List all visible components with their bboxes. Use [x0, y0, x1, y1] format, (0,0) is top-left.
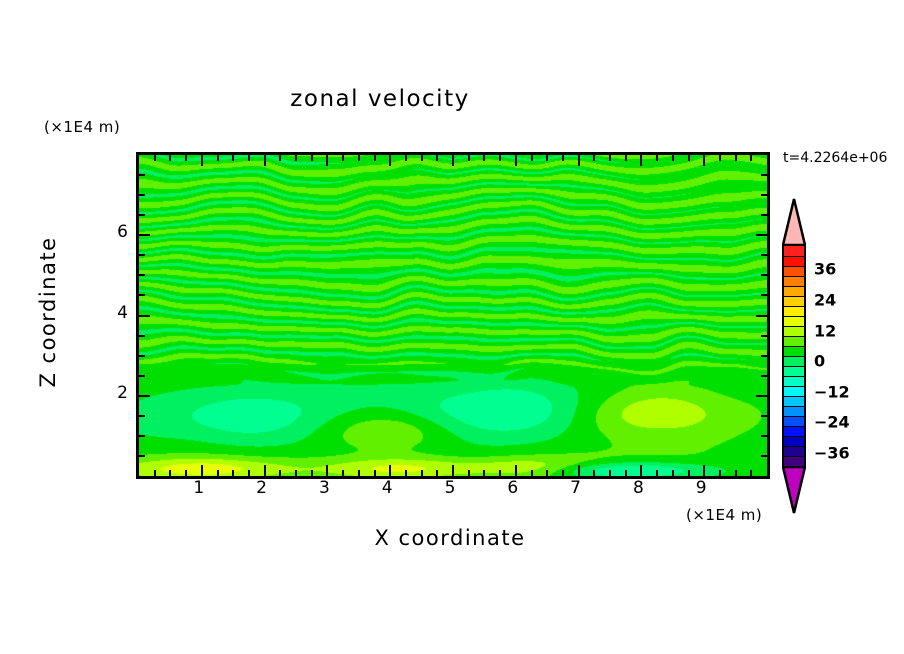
x-tick-top: [279, 155, 281, 161]
colorbar-bands: [782, 244, 806, 468]
z-tick-left: [139, 375, 145, 377]
x-tick-label: 8: [633, 478, 644, 498]
colorbar[interactable]: 3624120−12−24−36: [778, 198, 818, 514]
x-tick-bottom: [421, 470, 423, 476]
x-tick-top: [688, 155, 690, 161]
colorbar-band: [784, 336, 804, 346]
x-tick-top: [389, 155, 391, 166]
x-tick-label: 1: [193, 478, 204, 498]
z-tick-right: [756, 395, 767, 397]
x-tick-bottom: [295, 470, 297, 476]
x-tick-top: [640, 155, 642, 166]
colorbar-top-arrow-icon: [782, 198, 806, 246]
x-tick-label: 2: [256, 478, 267, 498]
z-tick-right: [761, 415, 767, 417]
x-axis-unit-note: (×1E4 m): [686, 506, 762, 524]
x-tick-top: [264, 155, 266, 166]
x-tick-top: [326, 155, 328, 166]
z-tick-left: [139, 194, 145, 196]
x-tick-label: 3: [319, 478, 330, 498]
x-tick-bottom: [185, 470, 187, 476]
z-tick-left: [139, 455, 145, 457]
x-tick-bottom: [248, 470, 250, 476]
x-tick-bottom: [452, 465, 454, 476]
x-tick-bottom: [483, 470, 485, 476]
x-tick-top: [295, 155, 297, 161]
x-tick-bottom: [436, 470, 438, 476]
x-tick-bottom: [672, 470, 674, 476]
x-tick-bottom: [169, 470, 171, 476]
x-tick-top: [750, 155, 752, 161]
x-tick-bottom: [499, 470, 501, 476]
colorbar-tick-label: −36: [814, 443, 850, 462]
z-tick-left: [139, 315, 150, 317]
z-tick-right: [761, 274, 767, 276]
x-tick-top: [217, 155, 219, 161]
x-tick-bottom: [154, 470, 156, 476]
x-tick-top: [154, 155, 156, 161]
colorbar-band: [784, 256, 804, 266]
x-tick-bottom: [750, 470, 752, 476]
x-tick-bottom: [405, 470, 407, 476]
y-axis-unit-note: (×1E4 m): [44, 118, 120, 136]
x-tick-top: [421, 155, 423, 161]
contour-plot-area[interactable]: [136, 152, 770, 479]
z-tick-label: 4: [98, 303, 128, 323]
z-tick-right: [761, 335, 767, 337]
z-tick-left: [139, 355, 145, 357]
z-tick-left: [139, 395, 150, 397]
x-tick-bottom: [609, 470, 611, 476]
z-tick-left: [139, 335, 145, 337]
x-tick-bottom: [546, 470, 548, 476]
x-tick-label: 7: [570, 478, 581, 498]
x-tick-top: [185, 155, 187, 161]
x-tick-top: [468, 155, 470, 161]
x-tick-bottom: [326, 465, 328, 476]
x-tick-bottom: [578, 465, 580, 476]
x-tick-label: 9: [696, 478, 707, 498]
x-tick-bottom: [201, 465, 203, 476]
colorbar-band: [784, 316, 804, 326]
x-tick-bottom: [468, 470, 470, 476]
x-tick-bottom: [593, 470, 595, 476]
x-tick-bottom: [389, 465, 391, 476]
colorbar-bottom-arrow-icon: [782, 466, 806, 514]
colorbar-band: [784, 346, 804, 356]
colorbar-band: [784, 406, 804, 416]
colorbar-band: [784, 366, 804, 376]
x-tick-label: 6: [507, 478, 518, 498]
colorbar-tick-label: −12: [814, 382, 850, 401]
x-tick-top: [358, 155, 360, 161]
colorbar-band: [784, 306, 804, 316]
y-axis-title: Z coordinate: [36, 236, 60, 387]
x-tick-top: [719, 155, 721, 161]
x-tick-top: [311, 155, 313, 161]
x-tick-bottom: [515, 465, 517, 476]
colorbar-band: [784, 416, 804, 426]
z-tick-right: [761, 355, 767, 357]
x-tick-top: [248, 155, 250, 161]
z-tick-left: [139, 214, 145, 216]
x-tick-bottom: [656, 470, 658, 476]
x-tick-top: [452, 155, 454, 166]
x-tick-bottom: [735, 470, 737, 476]
page-title: zonal velocity: [0, 86, 760, 112]
x-tick-top: [169, 155, 171, 161]
colorbar-band: [784, 386, 804, 396]
z-tick-right: [761, 214, 767, 216]
x-tick-label: 4: [382, 478, 393, 498]
colorbar-tick-label: 0: [814, 352, 825, 371]
x-tick-bottom: [311, 470, 313, 476]
z-tick-right: [761, 174, 767, 176]
x-tick-top: [232, 155, 234, 161]
colorbar-band: [784, 296, 804, 306]
z-tick-right: [761, 194, 767, 196]
colorbar-tick-label: −24: [814, 413, 850, 432]
x-tick-top: [201, 155, 203, 166]
colorbar-tick-label: 36: [814, 260, 836, 279]
x-tick-top: [499, 155, 501, 161]
x-tick-bottom: [358, 470, 360, 476]
z-tick-label: 2: [98, 383, 128, 403]
x-tick-top: [483, 155, 485, 161]
colorbar-tick-label: 12: [814, 321, 836, 340]
x-tick-bottom: [374, 470, 376, 476]
z-tick-left: [139, 254, 145, 256]
z-tick-right: [761, 455, 767, 457]
x-tick-top: [374, 155, 376, 161]
z-tick-left: [139, 294, 145, 296]
z-tick-left: [139, 415, 145, 417]
z-tick-left: [139, 274, 145, 276]
x-tick-bottom: [688, 470, 690, 476]
colorbar-band: [784, 286, 804, 296]
x-tick-bottom: [719, 470, 721, 476]
x-tick-bottom: [342, 470, 344, 476]
z-tick-left: [139, 234, 150, 236]
x-tick-top: [562, 155, 564, 161]
x-tick-label: 5: [445, 478, 456, 498]
z-tick-right: [761, 294, 767, 296]
colorbar-band: [784, 456, 804, 466]
z-tick-left: [139, 174, 145, 176]
colorbar-band: [784, 426, 804, 436]
colorbar-band: [784, 396, 804, 406]
x-tick-top: [593, 155, 595, 161]
colorbar-tick-label: 24: [814, 291, 836, 310]
x-tick-bottom: [217, 470, 219, 476]
x-tick-top: [405, 155, 407, 161]
x-tick-top: [578, 155, 580, 166]
x-axis-title: X coordinate: [136, 526, 764, 550]
z-tick-right: [761, 375, 767, 377]
colorbar-band: [784, 246, 804, 256]
x-tick-top: [436, 155, 438, 161]
x-tick-bottom: [703, 465, 705, 476]
x-tick-top: [531, 155, 533, 161]
x-tick-bottom: [264, 465, 266, 476]
colorbar-band: [784, 446, 804, 456]
x-tick-bottom: [279, 470, 281, 476]
x-tick-bottom: [232, 470, 234, 476]
colorbar-band: [784, 436, 804, 446]
x-tick-top: [656, 155, 658, 161]
colorbar-band: [784, 276, 804, 286]
colorbar-band: [784, 266, 804, 276]
x-tick-top: [703, 155, 705, 166]
time-stamp-label: t=4.2264e+06: [783, 150, 887, 166]
x-tick-top: [342, 155, 344, 161]
colorbar-band: [784, 356, 804, 366]
x-tick-top: [546, 155, 548, 161]
z-tick-right: [756, 315, 767, 317]
x-tick-bottom: [531, 470, 533, 476]
z-tick-right: [761, 254, 767, 256]
x-tick-top: [672, 155, 674, 161]
x-tick-top: [515, 155, 517, 166]
x-tick-top: [625, 155, 627, 161]
x-tick-top: [735, 155, 737, 161]
z-tick-label: 6: [98, 222, 128, 242]
x-tick-bottom: [562, 470, 564, 476]
colorbar-band: [784, 376, 804, 386]
x-tick-bottom: [640, 465, 642, 476]
z-tick-right: [756, 234, 767, 236]
x-tick-top: [609, 155, 611, 161]
x-tick-bottom: [625, 470, 627, 476]
colorbar-band: [784, 326, 804, 336]
z-tick-right: [761, 435, 767, 437]
z-tick-left: [139, 435, 145, 437]
velocity-field-canvas: [139, 155, 767, 476]
